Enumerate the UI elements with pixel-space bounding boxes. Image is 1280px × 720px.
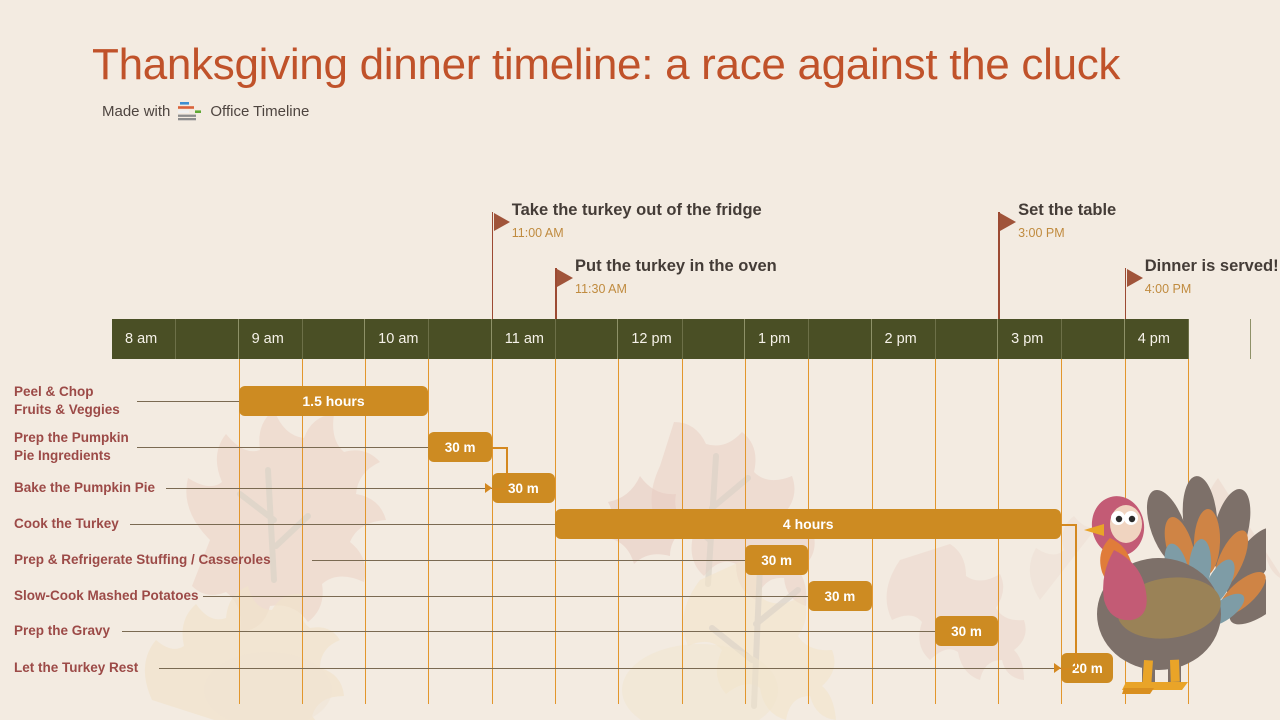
- task-leader-line: [312, 560, 745, 561]
- dependency-connector: [1061, 668, 1075, 670]
- axis-half-hour-divider: [555, 319, 556, 359]
- task-leader-line: [159, 668, 1062, 669]
- task-label-line: Let the Turkey Rest: [14, 659, 138, 677]
- axis-half-hour-divider: [302, 319, 303, 359]
- task-label-line: Bake the Pumpkin Pie: [14, 479, 155, 497]
- turkey-illustration-icon: [1076, 466, 1266, 696]
- axis-tick-label: 10 am: [365, 331, 418, 347]
- milestone-date: 11:00 AM: [512, 226, 564, 240]
- axis-half-hour-divider: [1061, 319, 1062, 359]
- made-with-branding: Made with Office Timeline: [102, 101, 309, 121]
- task-label: Bake the Pumpkin Pie: [14, 479, 155, 497]
- task-label: Peel & ChopFruits & Veggies: [14, 383, 120, 419]
- task-label: Cook the Turkey: [14, 515, 119, 533]
- axis-half-hour-divider: [682, 319, 683, 359]
- task-leader-line: [122, 631, 935, 632]
- axis-half-hour-divider: [428, 319, 429, 359]
- axis-half-hour-divider: [808, 319, 809, 359]
- task-bar[interactable]: 30 m: [745, 545, 808, 575]
- dependency-connector: [506, 447, 508, 488]
- task-leader-line: [203, 596, 809, 597]
- axis-tick-label: 11 am: [492, 331, 544, 347]
- axis-half-hour-divider: [175, 319, 176, 359]
- milestone-title: Take the turkey out of the fridge: [512, 201, 762, 220]
- task-label: Let the Turkey Rest: [14, 659, 138, 677]
- dependency-connector: [492, 447, 506, 449]
- task-label-line: Pie Ingredients: [14, 447, 129, 465]
- made-with-label: Made with: [102, 103, 170, 120]
- milestone-date: 11:30 AM: [575, 282, 627, 296]
- task-label-line: Slow-Cook Mashed Potatoes: [14, 587, 199, 605]
- gridline: [1061, 359, 1062, 704]
- milestone-date: 4:00 PM: [1145, 282, 1192, 296]
- task-leader-line: [130, 524, 556, 525]
- milestone-flag-icon[interactable]: [1127, 269, 1143, 287]
- axis-tick-label: 4 pm: [1125, 331, 1170, 347]
- dependency-connector: [1061, 524, 1075, 526]
- milestone-flag-icon[interactable]: [557, 269, 573, 287]
- milestone-title: Put the turkey in the oven: [575, 257, 777, 276]
- task-label-line: Peel & Chop: [14, 383, 120, 401]
- axis-tick-label: 3 pm: [998, 331, 1043, 347]
- task-bar[interactable]: 30 m: [935, 616, 998, 646]
- task-label: Prep & Refrigerate Stuffing / Casseroles: [14, 551, 271, 569]
- task-leader-line: [137, 447, 429, 448]
- page-title: Thanksgiving dinner timeline: a race aga…: [92, 40, 1120, 90]
- task-label: Prep the PumpkinPie Ingredients: [14, 429, 129, 465]
- axis-tick-label: 12 pm: [618, 331, 671, 347]
- office-timeline-logo-icon: [177, 101, 203, 121]
- dependency-arrow-icon: [1054, 663, 1061, 673]
- milestone-flag-icon[interactable]: [1000, 213, 1016, 231]
- task-bar[interactable]: 30 m: [808, 581, 871, 611]
- milestone-title: Dinner is served!: [1145, 257, 1279, 276]
- axis-half-hour-divider: [935, 319, 936, 359]
- axis-tick-label: 9 am: [239, 331, 284, 347]
- gridline: [428, 359, 429, 704]
- milestone-flag-icon[interactable]: [494, 213, 510, 231]
- task-label-line: Cook the Turkey: [14, 515, 119, 533]
- task-bar[interactable]: 4 hours: [555, 509, 1061, 539]
- axis-tick-label: 1 pm: [745, 331, 790, 347]
- time-axis: 8 am9 am10 am11 am12 pm1 pm2 pm3 pm4 pm: [112, 319, 1188, 359]
- task-label-line: Prep the Pumpkin: [14, 429, 129, 447]
- milestone-title: Set the table: [1018, 201, 1116, 220]
- task-leader-line: [137, 401, 239, 402]
- task-label-line: Prep & Refrigerate Stuffing / Casseroles: [14, 551, 271, 569]
- task-leader-line: [166, 488, 492, 489]
- task-label-line: Fruits & Veggies: [14, 401, 120, 419]
- milestone-date: 3:00 PM: [1018, 226, 1065, 240]
- axis-half-hour-divider: [1188, 319, 1189, 359]
- task-label-line: Prep the Gravy: [14, 622, 110, 640]
- dependency-connector: [492, 488, 506, 490]
- task-label: Slow-Cook Mashed Potatoes: [14, 587, 199, 605]
- gridline: [492, 359, 493, 704]
- task-bar[interactable]: 1.5 hours: [239, 386, 429, 416]
- brand-name: Office Timeline: [210, 103, 309, 120]
- dependency-arrow-icon: [485, 483, 492, 493]
- axis-tick-label: 2 pm: [872, 331, 917, 347]
- task-bar[interactable]: 30 m: [428, 432, 491, 462]
- axis-tick-label: 8 am: [112, 331, 157, 347]
- task-label: Prep the Gravy: [14, 622, 110, 640]
- timeline-infographic: Thanksgiving dinner timeline: a race aga…: [0, 0, 1280, 720]
